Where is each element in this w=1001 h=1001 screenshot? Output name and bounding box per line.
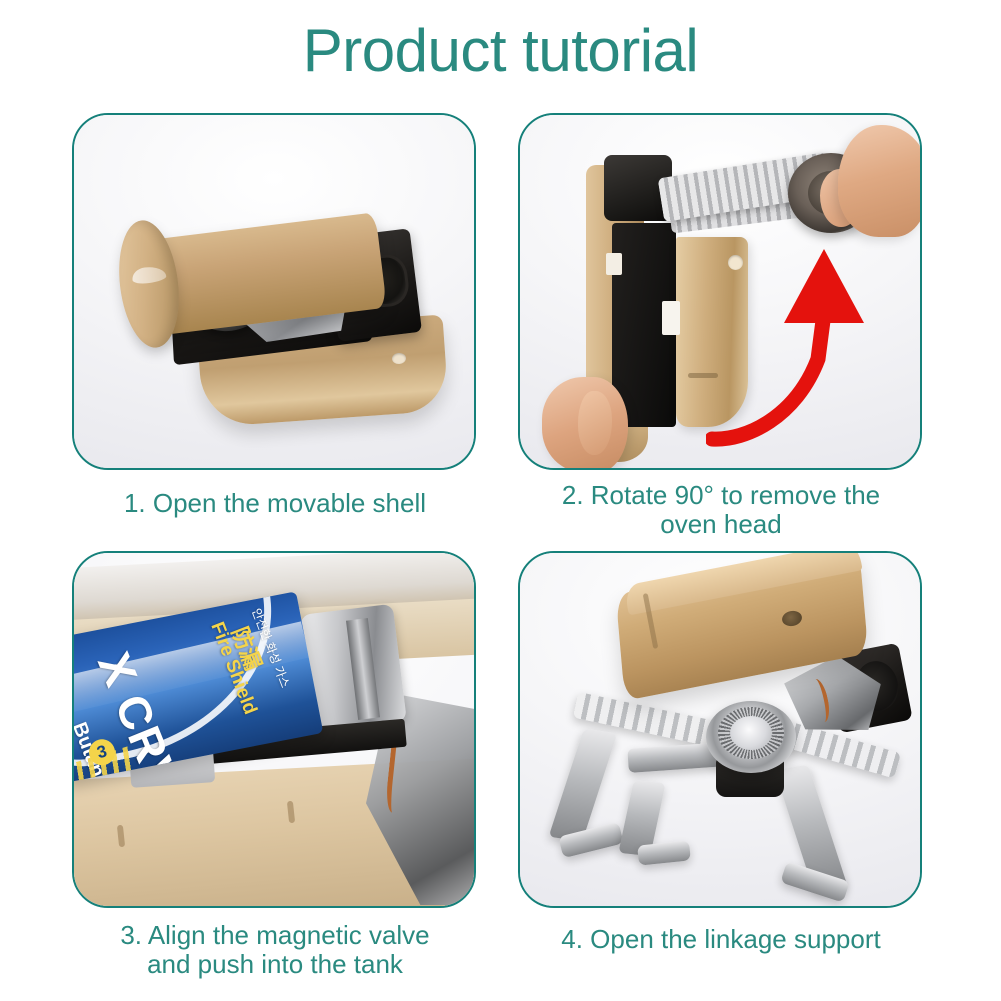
step-4-image-panel	[518, 551, 922, 908]
step-2-image-panel	[518, 113, 922, 470]
page-title: Product tutorial	[0, 16, 1001, 85]
step-1-photo	[74, 115, 474, 468]
step-3-image-panel: Butane X CRV Fire Shield 防漏 안전한 화성 가스 3	[72, 551, 476, 908]
step-2-caption: 2. Rotate 90° to remove the oven head	[506, 481, 936, 539]
step-3-caption: 3. Align the magnetic valve and push int…	[60, 921, 490, 979]
shell-catch	[662, 301, 680, 335]
burner-center	[730, 716, 772, 750]
step-4-caption: 4. Open the linkage support	[506, 925, 936, 954]
tutorial-infographic: Product tutorial 1. Open the movable she…	[0, 0, 1001, 1001]
step-2-photo	[520, 115, 920, 468]
step-4-photo	[520, 553, 920, 906]
step-3-photo: Butane X CRV Fire Shield 防漏 안전한 화성 가스 3	[74, 553, 474, 906]
lower-hand-thumb	[578, 391, 612, 455]
rotation-arrow-icon	[706, 241, 896, 456]
shell-latch-notch	[606, 253, 622, 275]
step-1-caption: 1. Open the movable shell	[60, 489, 490, 518]
upper-hand	[838, 125, 920, 237]
step-1-image-panel	[72, 113, 476, 470]
